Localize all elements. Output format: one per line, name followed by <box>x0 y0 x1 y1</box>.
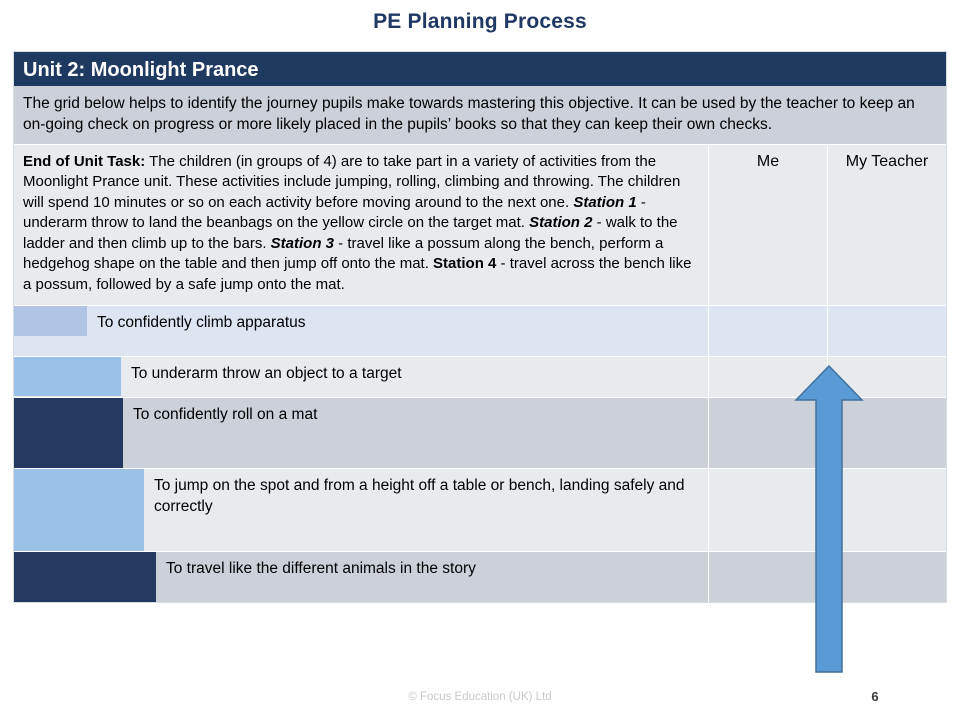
task-label: End of Unit Task: <box>23 153 145 170</box>
task-header-row: End of Unit Task: The children (in group… <box>14 144 946 305</box>
progress-step-block <box>14 306 87 336</box>
my-teacher-checkbox-cell[interactable] <box>827 306 946 356</box>
footer-copyright: © Focus Education (UK) Ltd <box>0 691 960 703</box>
page-title: PE Planning Process <box>0 10 960 34</box>
intro-paragraph: The grid below helps to identify the jou… <box>14 86 946 144</box>
me-checkbox-cell[interactable] <box>708 552 827 602</box>
station-2-label: Station 2 <box>529 214 592 231</box>
progress-step-block <box>14 469 144 551</box>
me-checkbox-cell[interactable] <box>708 398 827 468</box>
me-checkbox-cell[interactable] <box>708 357 827 397</box>
objective-text: To jump on the spot and from a height of… <box>144 469 708 551</box>
my-teacher-checkbox-cell[interactable] <box>827 552 946 602</box>
objective-row: To confidently climb apparatus <box>14 305 946 356</box>
end-of-unit-task-cell: End of Unit Task: The children (in group… <box>14 145 708 305</box>
objective-row: To confidently roll on a mat <box>14 397 946 468</box>
objective-text: To confidently roll on a mat <box>123 398 708 468</box>
column-header-me: Me <box>708 145 827 305</box>
objective-text: To travel like the different animals in … <box>156 552 708 602</box>
station-3-label: Station 3 <box>271 235 334 252</box>
my-teacher-checkbox-cell[interactable] <box>827 469 946 551</box>
my-teacher-checkbox-cell[interactable] <box>827 357 946 397</box>
progress-step-block <box>14 552 156 602</box>
objective-row: To jump on the spot and from a height of… <box>14 468 946 551</box>
objective-rows: To confidently climb apparatusTo underar… <box>14 305 946 602</box>
my-teacher-checkbox-cell[interactable] <box>827 398 946 468</box>
objective-text: To underarm throw an object to a target <box>121 357 708 397</box>
me-checkbox-cell[interactable] <box>708 469 827 551</box>
progress-step-block <box>14 398 123 468</box>
station-1-label: Station 1 <box>573 194 636 211</box>
planning-grid: Unit 2: Moonlight Prance The grid below … <box>13 51 947 603</box>
objective-row: To underarm throw an object to a target <box>14 356 946 397</box>
station-4-label: Station 4 <box>433 255 496 272</box>
progress-step-block <box>14 357 121 396</box>
objective-row: To travel like the different animals in … <box>14 551 946 602</box>
objective-text: To confidently climb apparatus <box>87 306 708 356</box>
unit-banner: Unit 2: Moonlight Prance <box>14 52 946 86</box>
me-checkbox-cell[interactable] <box>708 306 827 356</box>
column-header-my-teacher: My Teacher <box>827 145 946 305</box>
footer-page-number: 6 <box>860 689 890 704</box>
